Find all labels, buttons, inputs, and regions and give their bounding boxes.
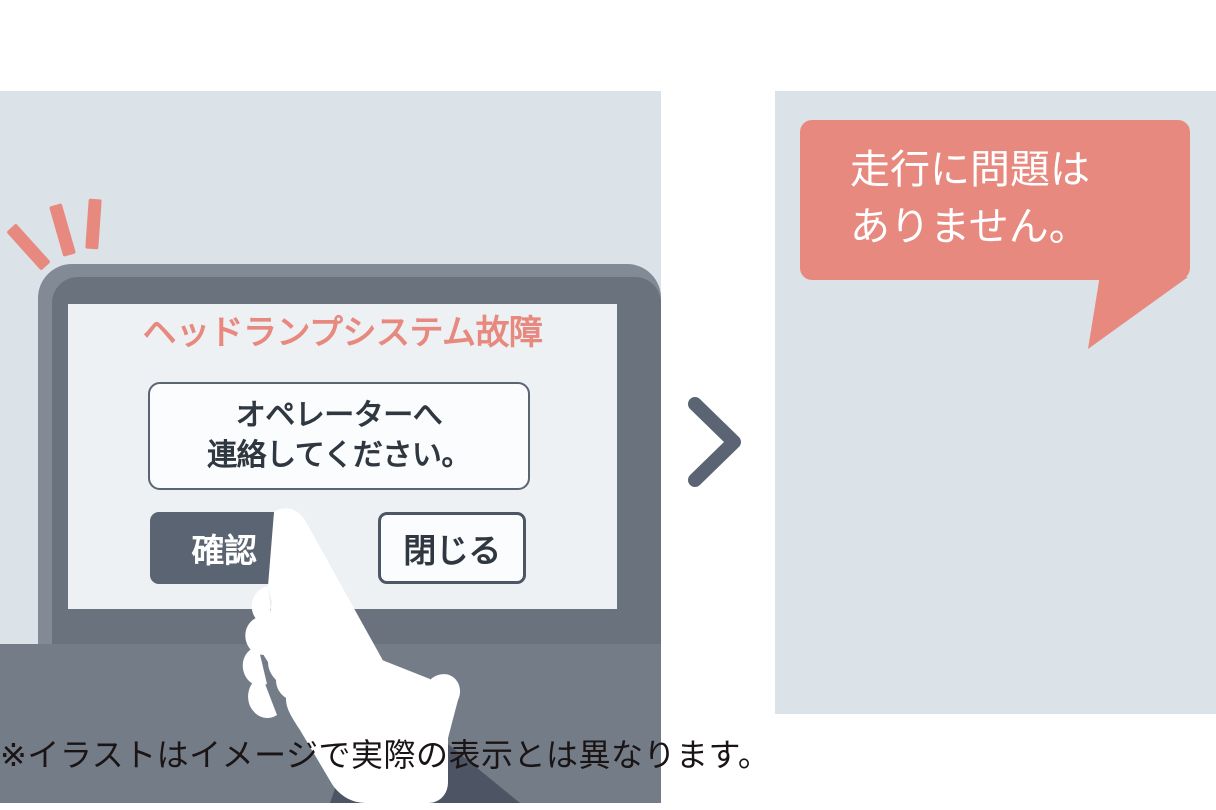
speech-bubble-tail [1060,275,1200,355]
speech-bubble-text: 走行に問題は ありません。 [850,142,1180,256]
chevron-right-icon [684,396,746,488]
speech-bubble-line-1: 走行に問題は [850,142,1180,199]
alert-message-line-2: 連絡してください。 [207,436,471,476]
alert-message-line-1: オペレーターへ [236,396,443,436]
alert-title: ヘッドランプシステム故障 [68,315,617,352]
confirm-button[interactable]: 確認 [150,512,298,584]
speech-bubble-line-2: ありません。 [850,199,1180,256]
close-button[interactable]: 閉じる [378,512,526,584]
speech-bubble: 走行に問題は ありません。 [800,120,1190,280]
close-button-label: 閉じる [403,524,501,572]
alert-spark-icon [6,223,50,270]
alert-message-box: オペレーターへ 連絡してください。 [148,382,530,490]
alert-spark-icon [49,203,76,257]
alert-spark-icon [85,199,101,250]
in-vehicle-display-panel: ヘッドランプシステム故障 オペレーターへ 連絡してください。 確認 閉じる [0,91,661,712]
scene-root: ヘッドランプシステム故障 オペレーターへ 連絡してください。 確認 閉じる [0,0,1216,810]
monitor-base [0,644,661,803]
disclaimer-caption: ※イラストはイメージで実際の表示とは異なります。 [0,736,1216,774]
confirm-button-label: 確認 [192,524,257,572]
